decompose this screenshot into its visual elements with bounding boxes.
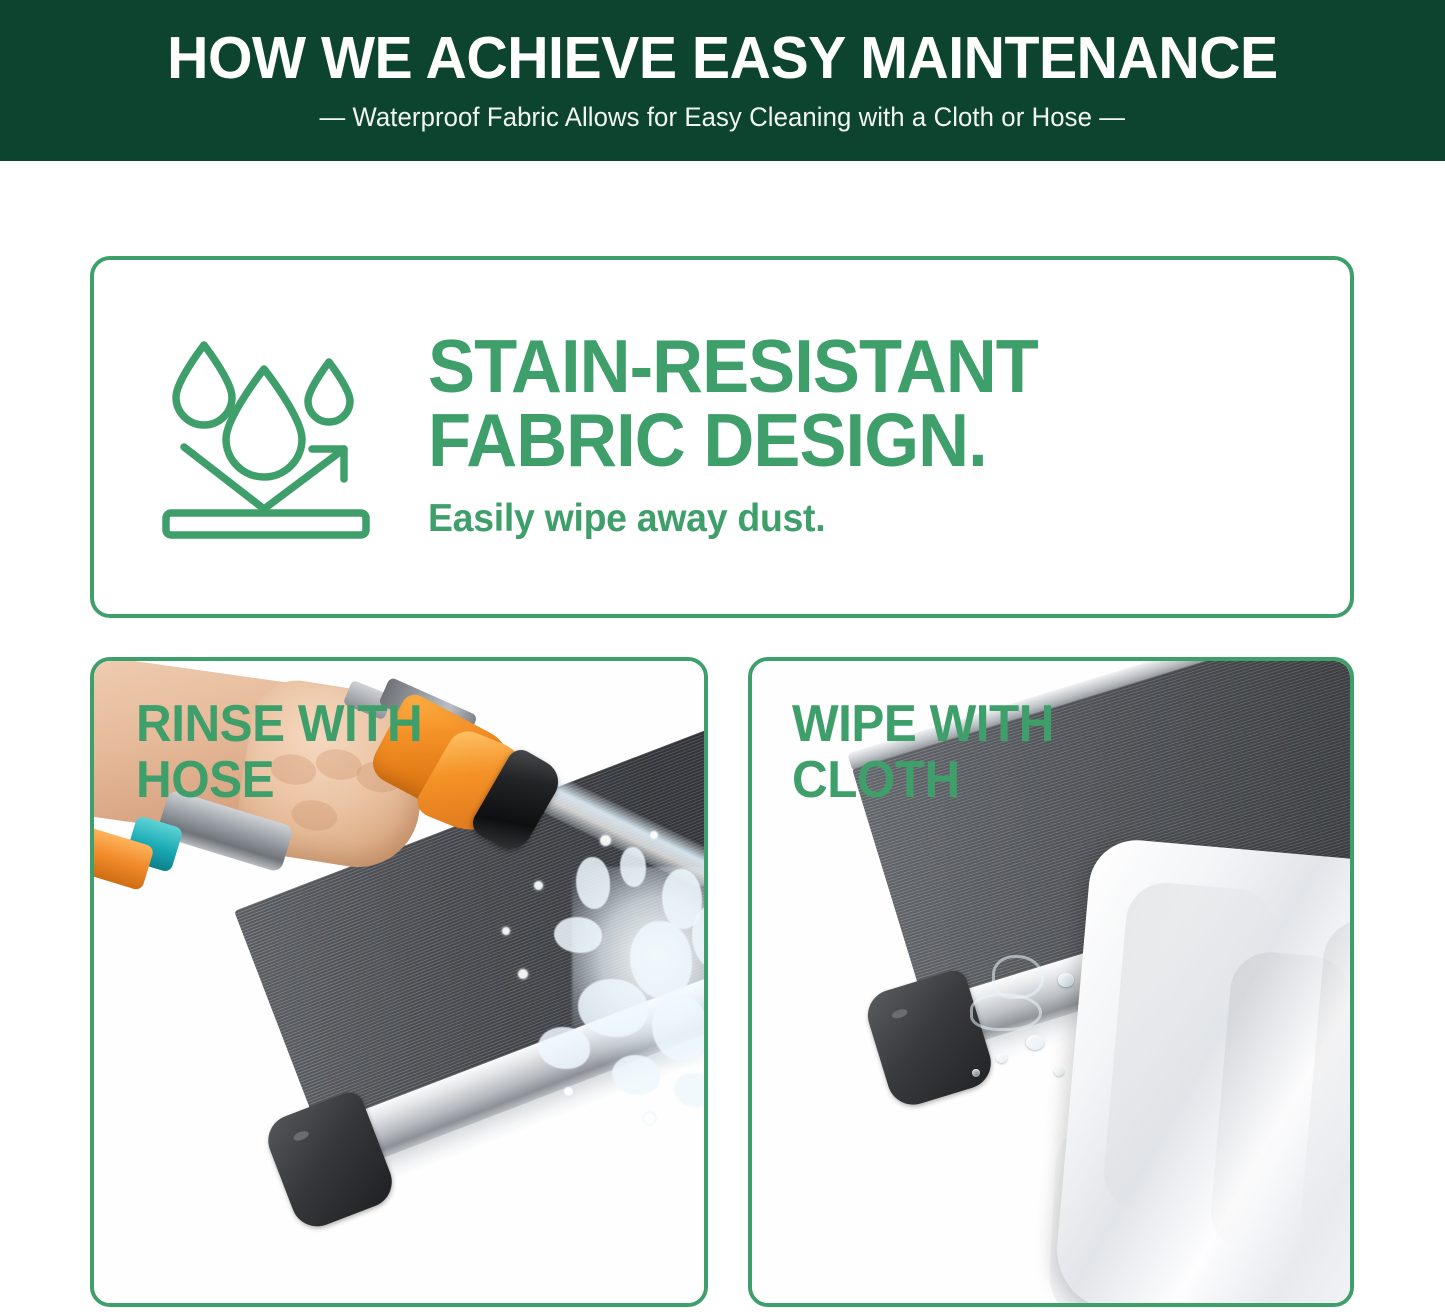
wipe-with-cloth-label: WIPE WITH CLOTH <box>792 697 1054 808</box>
rinse-with-hose-card: RINSE WITH HOSE <box>90 657 708 1307</box>
rinse-with-hose-label: RINSE WITH HOSE <box>136 697 422 808</box>
stain-resistant-heading-line1: STAIN-RESISTANT <box>428 329 1295 403</box>
page-title: HOW WE ACHIEVE EASY MAINTENANCE <box>167 28 1278 88</box>
infographic-page: HOW WE ACHIEVE EASY MAINTENANCE — Waterp… <box>0 0 1445 1316</box>
microfiber-cleaning-cloth <box>1052 836 1350 1303</box>
stain-resistant-subheading: Easily wipe away dust. <box>428 497 1313 541</box>
page-subtitle: — Waterproof Fabric Allows for Easy Clea… <box>320 102 1126 133</box>
water-splash-droplets <box>524 851 704 1141</box>
stain-resistant-heading-line2: FABRIC DESIGN. <box>428 403 1295 477</box>
header-banner: HOW WE ACHIEVE EASY MAINTENANCE — Waterp… <box>0 0 1445 161</box>
stain-resistant-card: STAIN-RESISTANT FABRIC DESIGN. Easily wi… <box>90 256 1354 618</box>
stain-resistant-text-block: STAIN-RESISTANT FABRIC DESIGN. Easily wi… <box>428 329 1350 546</box>
water-repellent-fabric-icon <box>146 327 394 552</box>
wipe-with-cloth-card: WIPE WITH CLOTH <box>748 657 1354 1307</box>
